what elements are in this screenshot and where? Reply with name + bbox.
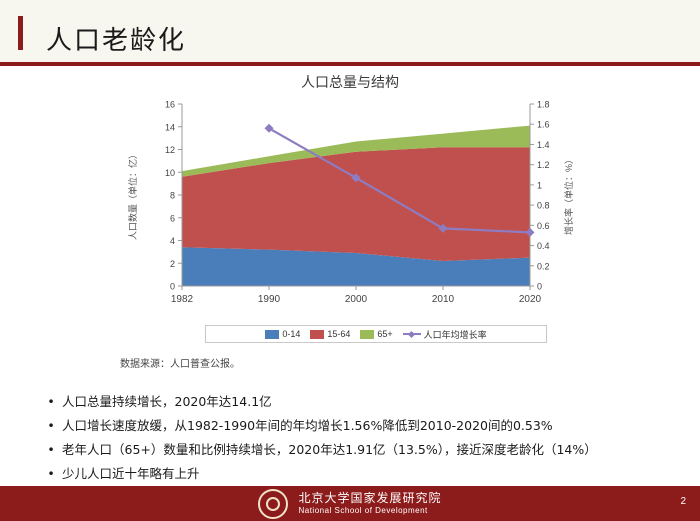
footer-brand: 北京大学国家发展研究院 National School of Developme… — [0, 486, 700, 521]
bullet-dot-icon: • — [40, 440, 62, 460]
chart-legend: 0-14 15-64 65+ 人口年均增长率 — [205, 325, 547, 343]
legend-label-growth-rate: 人口年均增长率 — [424, 328, 487, 341]
legend-label-0-14: 0-14 — [282, 329, 300, 339]
bullet-text: 少儿人口近十年略有上升 — [62, 464, 670, 484]
legend-item-65plus: 65+ — [360, 329, 392, 339]
footer-text-block: 北京大学国家发展研究院 National School of Developme… — [298, 492, 441, 515]
chart-svg: 024681012141600.20.40.60.811.21.41.61.81… — [120, 96, 580, 316]
svg-text:2010: 2010 — [432, 294, 455, 305]
slide-footer: 北京大学国家发展研究院 National School of Developme… — [0, 486, 700, 521]
svg-text:1990: 1990 — [258, 294, 281, 305]
svg-text:8: 8 — [170, 191, 175, 201]
bullet-dot-icon: • — [40, 392, 62, 412]
chart-plot: 024681012141600.20.40.60.811.21.41.61.81… — [120, 96, 580, 316]
svg-text:1982: 1982 — [171, 294, 194, 305]
svg-text:增长率（单位：%）: 增长率（单位：%） — [563, 155, 574, 235]
svg-text:2020: 2020 — [519, 294, 542, 305]
svg-text:1.8: 1.8 — [537, 100, 550, 110]
header-divider — [0, 62, 700, 66]
bullet-dot-icon: • — [40, 464, 62, 484]
svg-text:1.2: 1.2 — [537, 160, 550, 170]
header-accent-bar — [18, 16, 23, 50]
svg-text:1.6: 1.6 — [537, 120, 550, 130]
svg-text:4: 4 — [170, 236, 175, 246]
legend-label-65plus: 65+ — [377, 329, 392, 339]
legend-item-growth-rate: 人口年均增长率 — [403, 328, 487, 341]
page-title: 人口老龄化 — [46, 20, 186, 57]
svg-text:1.4: 1.4 — [537, 140, 550, 150]
university-seal-icon — [258, 489, 288, 519]
bullet-list: • 人口总量持续增长，2020年达14.1亿 • 人口增长速度放缓，从1982-… — [40, 392, 670, 488]
svg-text:2: 2 — [170, 259, 175, 269]
chart-container: 人口总量与结构 024681012141600.20.40.60.811.21.… — [120, 72, 580, 347]
legend-swatch-0-14 — [265, 330, 279, 339]
legend-swatch-65plus — [360, 330, 374, 339]
svg-text:6: 6 — [170, 213, 175, 223]
svg-text:1: 1 — [537, 180, 542, 190]
svg-text:人口数量（单位：亿）: 人口数量（单位：亿） — [127, 150, 138, 240]
chart-title: 人口总量与结构 — [120, 72, 580, 92]
list-item: • 人口增长速度放缓，从1982-1990年间的年均增长1.56%降低到2010… — [40, 416, 670, 436]
footer-name-cn: 北京大学国家发展研究院 — [298, 492, 441, 506]
svg-text:0.6: 0.6 — [537, 221, 550, 231]
footer-name-en: National School of Development — [298, 506, 441, 515]
svg-text:0.8: 0.8 — [537, 201, 550, 211]
bullet-text: 人口增长速度放缓，从1982-1990年间的年均增长1.56%降低到2010-2… — [62, 416, 670, 436]
svg-text:0: 0 — [170, 282, 175, 292]
bullet-dot-icon: • — [40, 416, 62, 436]
list-item: • 老年人口（65+）数量和比例持续增长，2020年达1.91亿（13.5%），… — [40, 440, 670, 460]
svg-text:10: 10 — [165, 168, 175, 178]
svg-text:12: 12 — [165, 145, 175, 155]
svg-text:0.4: 0.4 — [537, 241, 550, 251]
legend-swatch-15-64 — [310, 330, 324, 339]
bullet-text: 老年人口（65+）数量和比例持续增长，2020年达1.91亿（13.5%），接近… — [62, 440, 670, 460]
bullet-text: 人口总量持续增长，2020年达14.1亿 — [62, 392, 670, 412]
legend-label-15-64: 15-64 — [327, 329, 350, 339]
legend-line-growth-rate — [403, 333, 421, 335]
list-item: • 人口总量持续增长，2020年达14.1亿 — [40, 392, 670, 412]
chart-source-note: 数据来源：人口普查公报。 — [120, 355, 240, 370]
page-number: 2 — [680, 496, 686, 507]
legend-item-15-64: 15-64 — [310, 329, 350, 339]
svg-text:16: 16 — [165, 100, 175, 110]
svg-text:0.2: 0.2 — [537, 261, 550, 271]
svg-text:2000: 2000 — [345, 294, 368, 305]
list-item: • 少儿人口近十年略有上升 — [40, 464, 670, 484]
svg-text:14: 14 — [165, 122, 175, 132]
legend-item-0-14: 0-14 — [265, 329, 300, 339]
slide-header: 人口老龄化 — [0, 0, 700, 62]
svg-text:0: 0 — [537, 282, 542, 292]
